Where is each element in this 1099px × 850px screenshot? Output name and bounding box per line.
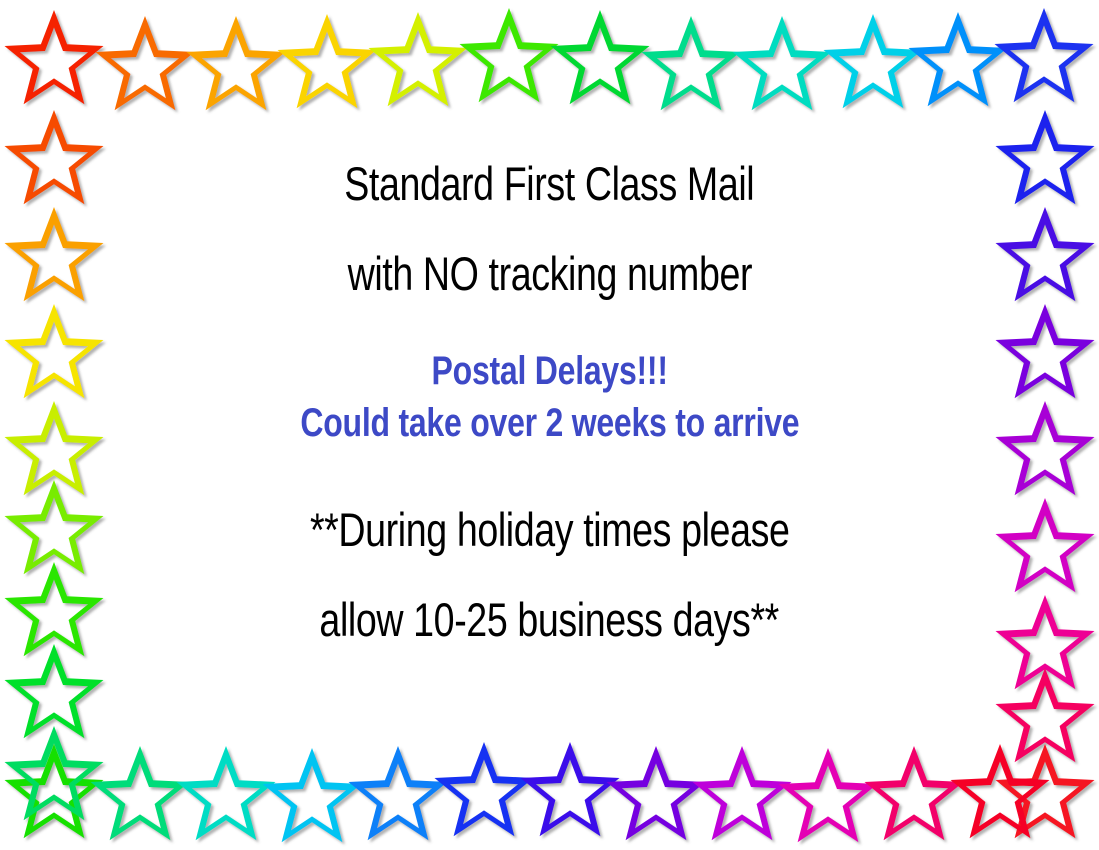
shipping-notice-poster: Standard First Class Mail with NO tracki…	[0, 0, 1099, 850]
alert-line-1: Postal Delays!!!	[431, 350, 667, 392]
note-line-2: allow 10-25 business days**	[320, 596, 779, 644]
alert-line-2: Could take over 2 weeks to arrive	[300, 402, 799, 444]
title-line-1: Standard First Class Mail	[345, 160, 755, 208]
message-panel: Standard First Class Mail with NO tracki…	[118, 112, 981, 734]
note-line-1: **During holiday times please	[310, 506, 790, 554]
title-line-2: with NO tracking number	[347, 250, 752, 298]
